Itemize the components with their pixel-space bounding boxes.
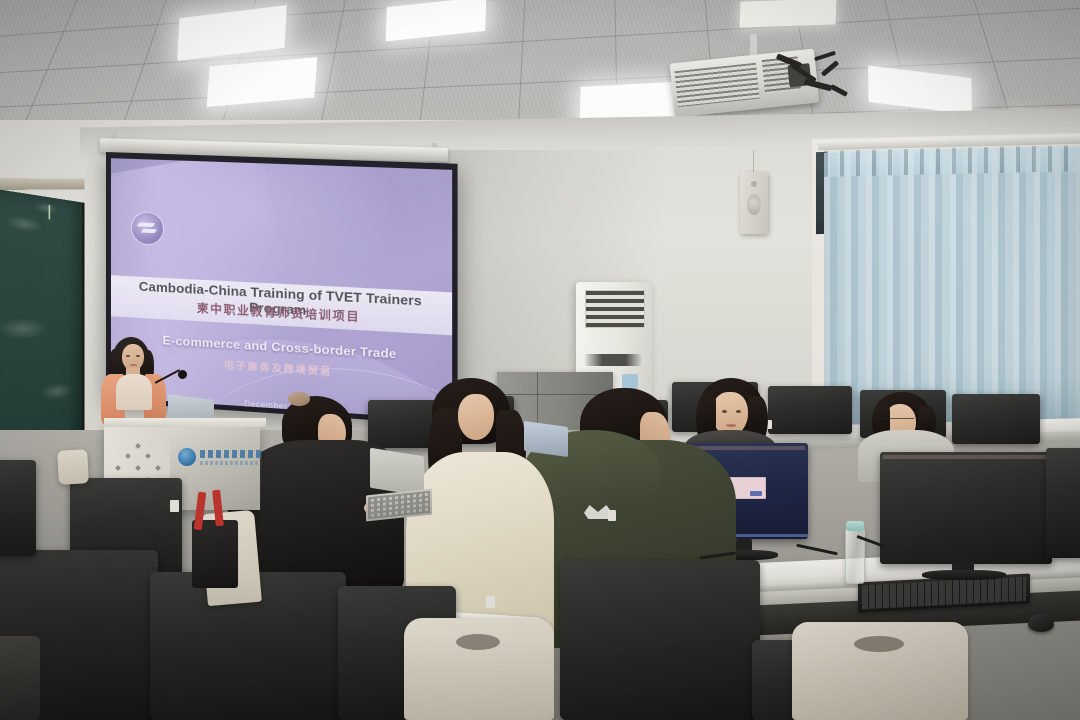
green-chalkboard[interactable] [0, 188, 84, 458]
classroom-chair[interactable] [0, 636, 40, 720]
monitor-asset-tag [608, 510, 616, 521]
window-curtain[interactable] [824, 147, 1080, 427]
computer-mouse[interactable] [1028, 614, 1054, 632]
ceiling-light-panel [740, 0, 837, 28]
institution-emblem-icon [131, 211, 164, 246]
monitor-rear-panel[interactable] [560, 560, 760, 720]
monitor-asset-tag [486, 596, 495, 608]
desktop-monitor[interactable] [880, 452, 1052, 564]
desktop-monitor [952, 394, 1040, 444]
monitor-base [922, 570, 1006, 580]
ac-louver-grille [585, 290, 645, 328]
desktop-monitor [768, 386, 852, 434]
speaker-tweeter [751, 181, 757, 187]
chalkboard-top-frame [0, 178, 84, 190]
eyeglasses-icon [884, 418, 914, 425]
classroom-chair[interactable] [792, 622, 968, 720]
hair-clip [288, 392, 310, 406]
monitor-rear-panel[interactable] [0, 460, 36, 556]
dialog-ok-button[interactable] [750, 491, 762, 496]
laptop-screen[interactable] [524, 421, 568, 457]
speaker-cone [747, 194, 761, 215]
speaker-wire [753, 150, 754, 174]
projector-cable-bundle [770, 48, 854, 112]
keyboard-keys [862, 577, 1026, 610]
classroom-chair[interactable] [404, 618, 554, 720]
microphone-head-icon [178, 370, 187, 379]
bottle-cap[interactable] [846, 521, 864, 531]
eye [736, 410, 741, 413]
monitor-top-bezel [883, 455, 1048, 459]
classroom-scene: Cambodia-China Training of TVET Trainers… [0, 0, 1080, 720]
monitor-asset-tag [170, 500, 179, 512]
laptop-keys [368, 491, 430, 520]
wall-mounted-speaker [740, 172, 768, 234]
shoulder-bag[interactable] [192, 520, 238, 588]
presenter-face [122, 344, 144, 371]
classroom-chair[interactable] [57, 449, 89, 485]
mouth [726, 424, 736, 427]
eye [722, 410, 727, 413]
presenter-blouse [116, 374, 152, 410]
laptop-screen[interactable] [370, 448, 424, 497]
ac-display-panel [585, 354, 643, 366]
desktop-monitor[interactable] [1046, 448, 1080, 558]
projector-vent-grille [674, 63, 759, 107]
